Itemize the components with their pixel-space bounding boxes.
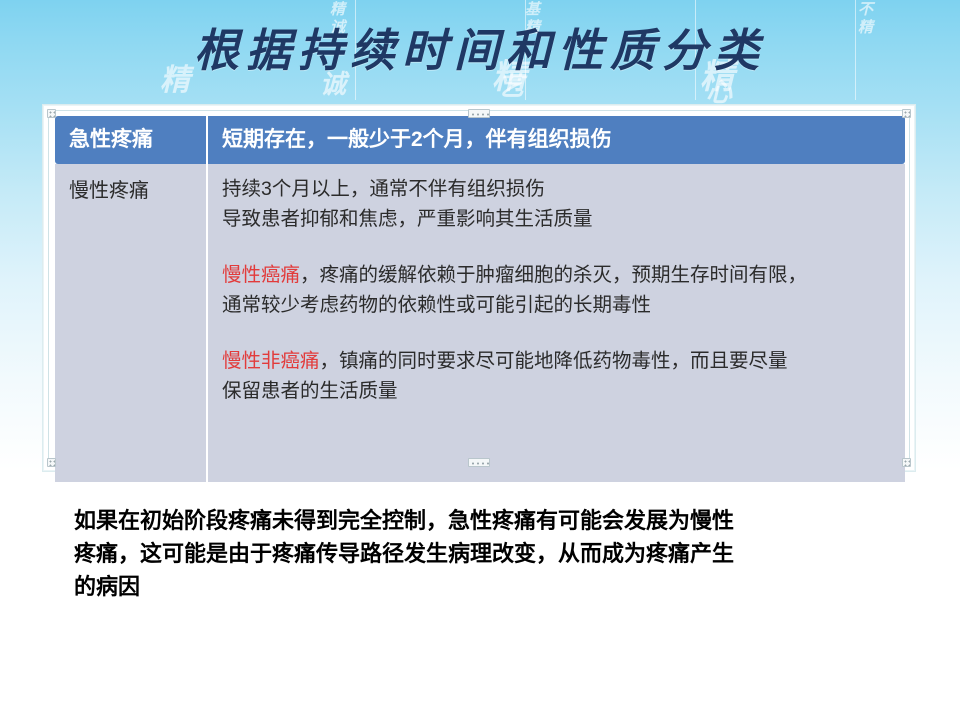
resize-handle-bottom-left[interactable] bbox=[47, 458, 56, 467]
row-description-chronic: 持续3个月以上，通常不伴有组织损伤 导致患者抑郁和焦虑，严重影响其生活质量 慢性… bbox=[207, 164, 905, 482]
resize-handle-top-right[interactable] bbox=[902, 109, 911, 118]
resize-handle-top-left[interactable] bbox=[47, 109, 56, 118]
slide-canvas: 精 诚 诚 精 艺 基 精 精 心 不 精 精 根据持续时间和性质分类 急性疼痛… bbox=[0, 0, 960, 720]
chronic-noncancer-pain-line: 慢性非癌痛，镇痛的同时要求尽可能地降低药物毒性，而且要尽量 bbox=[222, 346, 952, 376]
bottom-note: 如果在初始阶段疼痛未得到完全控制，急性疼痛有可能会发展为慢性 疼痛，这可能是由于… bbox=[74, 504, 904, 603]
header-label-acute: 急性疼痛 bbox=[55, 116, 207, 164]
resize-handle-bottom-center[interactable] bbox=[468, 458, 490, 467]
watermark-char: 精 bbox=[330, 2, 345, 17]
paragraph-spacer bbox=[222, 234, 905, 260]
table-row[interactable]: 急性疼痛 短期存在，一般少于2个月，伴有组织损伤 bbox=[55, 116, 905, 164]
chronic-line-1: 持续3个月以上，通常不伴有组织损伤 bbox=[222, 174, 952, 204]
watermark-char: 基 bbox=[525, 2, 540, 17]
slide-title: 根据持续时间和性质分类 bbox=[0, 22, 960, 80]
keyword-chronic-noncancer-pain: 慢性非癌痛 bbox=[222, 350, 320, 372]
chronic-line-2: 导致患者抑郁和焦虑，严重影响其生活质量 bbox=[222, 204, 952, 234]
pain-classification-table[interactable]: 急性疼痛 短期存在，一般少于2个月，伴有组织损伤 慢性疼痛 持续3个月以上，通常… bbox=[55, 116, 905, 482]
chronic-noncancer-pain-text: ，镇痛的同时要求尽可能地降低药物毒性，而且要尽量 bbox=[320, 350, 788, 372]
chronic-cancer-pain-text: ，疼痛的缓解依赖于肿瘤细胞的杀灭，预期生存时间有限， bbox=[300, 264, 807, 286]
keyword-chronic-cancer-pain: 慢性癌痛 bbox=[222, 264, 300, 286]
chronic-noncancer-pain-line-2: 保留患者的生活质量 bbox=[222, 376, 952, 406]
chronic-cancer-pain-line: 慢性癌痛，疼痛的缓解依赖于肿瘤细胞的杀灭，预期生存时间有限， bbox=[222, 260, 952, 290]
resize-handle-top-center[interactable] bbox=[468, 109, 490, 118]
bottom-note-line-1: 如果在初始阶段疼痛未得到完全控制，急性疼痛有可能会发展为慢性 bbox=[74, 504, 904, 537]
paragraph-spacer bbox=[222, 320, 905, 346]
watermark-char: 心 bbox=[706, 80, 732, 106]
table-row[interactable]: 慢性疼痛 持续3个月以上，通常不伴有组织损伤 导致患者抑郁和焦虑，严重影响其生活… bbox=[55, 164, 905, 482]
resize-handle-bottom-right[interactable] bbox=[902, 458, 911, 467]
row-label-chronic: 慢性疼痛 bbox=[55, 164, 207, 482]
header-description-acute: 短期存在，一般少于2个月，伴有组织损伤 bbox=[207, 116, 905, 164]
bottom-note-line-2: 疼痛，这可能是由于疼痛传导路径发生病理改变，从而成为疼痛产生 bbox=[74, 537, 904, 570]
bottom-note-line-3: 的病因 bbox=[74, 570, 904, 603]
chronic-cancer-pain-line-2: 通常较少考虑药物的依赖性或可能引起的长期毒性 bbox=[222, 290, 952, 320]
watermark-char: 不 bbox=[858, 2, 873, 17]
